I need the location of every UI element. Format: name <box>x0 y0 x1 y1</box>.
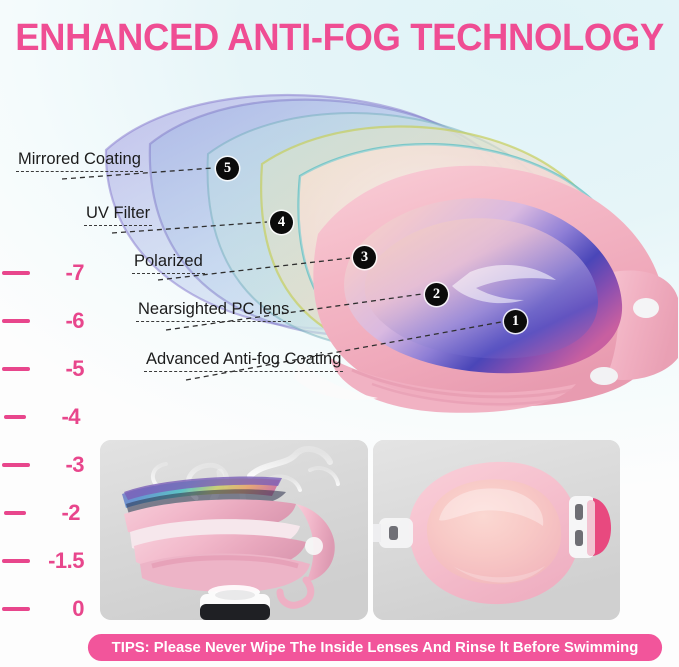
tips-banner: TIPS: Please Never Wipe The Inside Lense… <box>88 634 662 661</box>
diopter-tick-2: -5 <box>0 356 84 382</box>
diopter-dash-icon <box>4 511 26 515</box>
diopter-dash-icon <box>2 463 30 467</box>
diopter-tick-6: -1.5 <box>0 548 84 574</box>
diopter-tick-1: -6 <box>0 308 84 334</box>
callout-underline-4 <box>84 225 152 226</box>
diopter-dash-icon <box>2 271 30 275</box>
diopter-dash-icon <box>2 367 30 371</box>
diopter-tick-4: -3 <box>0 452 84 478</box>
callout-underline-1 <box>144 371 343 372</box>
callout-badge-2: 2 <box>425 283 448 306</box>
callout-label-2: Nearsighted PC lens <box>136 300 291 321</box>
diopter-dash-icon <box>2 607 30 611</box>
page-title: ENHANCED ANTI-FOG TECHNOLOGY <box>14 16 666 60</box>
lens-closeup-photo <box>373 440 620 620</box>
callout-label-1: Advanced Anti-fog Coating <box>144 350 343 371</box>
callout-underline-2 <box>136 321 291 322</box>
callout-label-3: Polarized <box>132 252 205 273</box>
infographic-root: ENHANCED ANTI-FOG TECHNOLOGY <box>0 0 679 667</box>
callout-underline-3 <box>132 273 205 274</box>
callout-badge-3: 3 <box>353 246 376 269</box>
callout-nearsighted-pc-lens: Nearsighted PC lens <box>136 300 291 322</box>
diopter-value: 0 <box>30 596 84 622</box>
callout-underline-5 <box>16 171 143 172</box>
goggle-body <box>294 166 678 413</box>
diopter-value: -4 <box>26 404 80 430</box>
diopter-tick-5: -2 <box>0 500 80 526</box>
diopter-value: -5 <box>30 356 84 382</box>
diopter-value: -3 <box>30 452 84 478</box>
callout-badge-4: 4 <box>270 211 293 234</box>
callout-polarized: Polarized <box>132 252 205 274</box>
fog-test-photo <box>100 440 368 620</box>
callout-mirrored-coating: Mirrored Coating <box>16 150 143 172</box>
diopter-value: -6 <box>30 308 84 334</box>
goggle-illustration <box>0 58 679 433</box>
callout-badge-5: 5 <box>216 157 239 180</box>
diopter-dash-icon <box>2 319 30 323</box>
diopter-value: -1.5 <box>30 548 84 574</box>
diopter-dash-icon <box>4 415 26 419</box>
callout-badge-1: 1 <box>504 310 527 333</box>
diopter-value: -2 <box>26 500 80 526</box>
diopter-scale: -7 -6 -5 -4 -3 -2 -1.5 0 <box>0 250 92 640</box>
diopter-dash-icon <box>2 559 30 563</box>
callout-label-4: UV Filter <box>84 204 152 225</box>
diopter-tick-0: -7 <box>0 260 84 286</box>
diopter-tick-3: -4 <box>0 404 80 430</box>
callout-label-5: Mirrored Coating <box>16 150 143 171</box>
callout-uv-filter: UV Filter <box>84 204 152 226</box>
diopter-tick-7: 0 <box>0 596 84 622</box>
callout-advanced-anti-fog-coating: Advanced Anti-fog Coating <box>144 350 343 372</box>
diopter-value: -7 <box>30 260 84 286</box>
